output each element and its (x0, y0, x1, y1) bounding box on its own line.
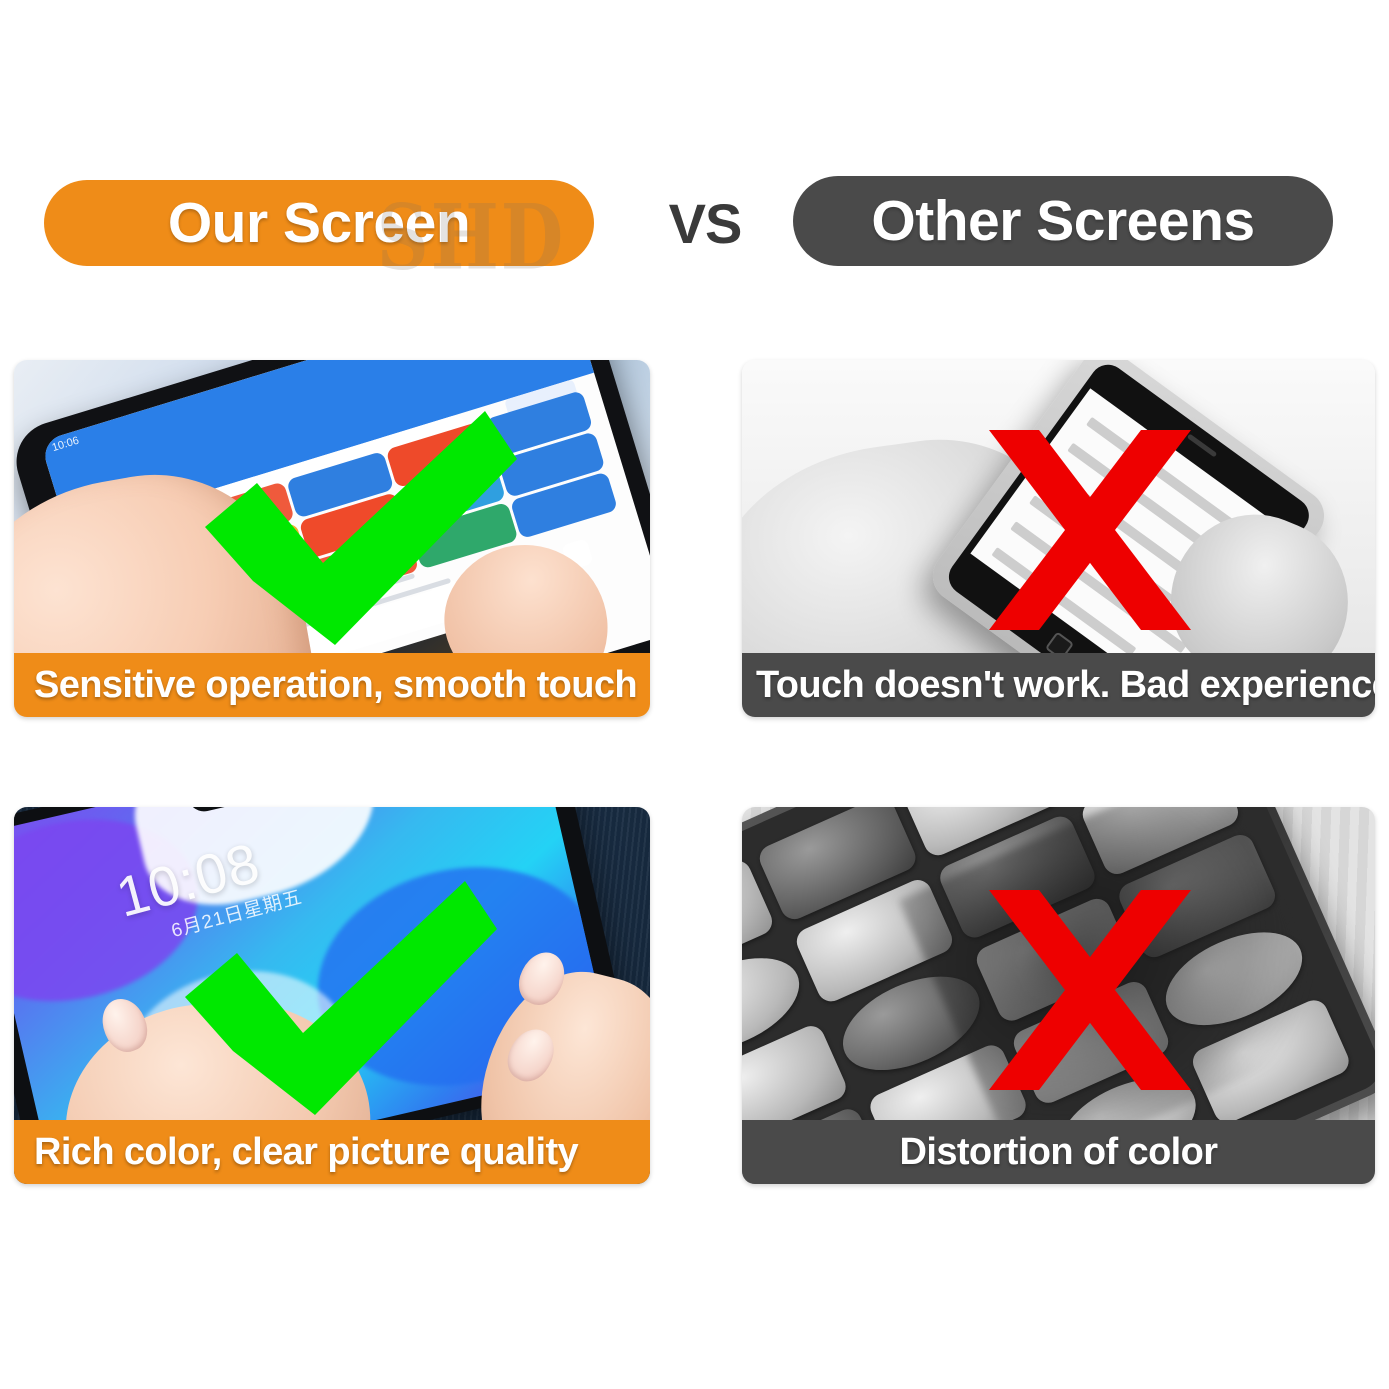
caption-distortion-of-color: Distortion of color (742, 1120, 1375, 1184)
our-screen-badge: Our Screen (44, 180, 594, 266)
panel-top-right: Touch doesn't work. Bad experience (742, 360, 1375, 717)
earpiece-speaker (1186, 433, 1216, 457)
caption-rich-color: Rich color, clear picture quality (14, 1120, 650, 1184)
comparison-infographic: Our Screen VS Other Screens SHD 10:06 (0, 0, 1389, 1389)
header: Our Screen VS Other Screens (0, 166, 1389, 286)
panel-top-left: 10:06 (14, 360, 650, 717)
panel-bottom-left: 10:08 6月21日星期五 Rich color, clear picture… (14, 807, 650, 1184)
caption-sensitive-touch: Sensitive operation, smooth touch (14, 653, 650, 717)
panel-bottom-right: Distortion of color (742, 807, 1375, 1184)
caption-touch-not-working: Touch doesn't work. Bad experience (742, 653, 1375, 717)
other-screens-badge: Other Screens (793, 176, 1333, 266)
status-time: 10:06 (51, 434, 81, 454)
vs-label: VS (640, 180, 770, 266)
